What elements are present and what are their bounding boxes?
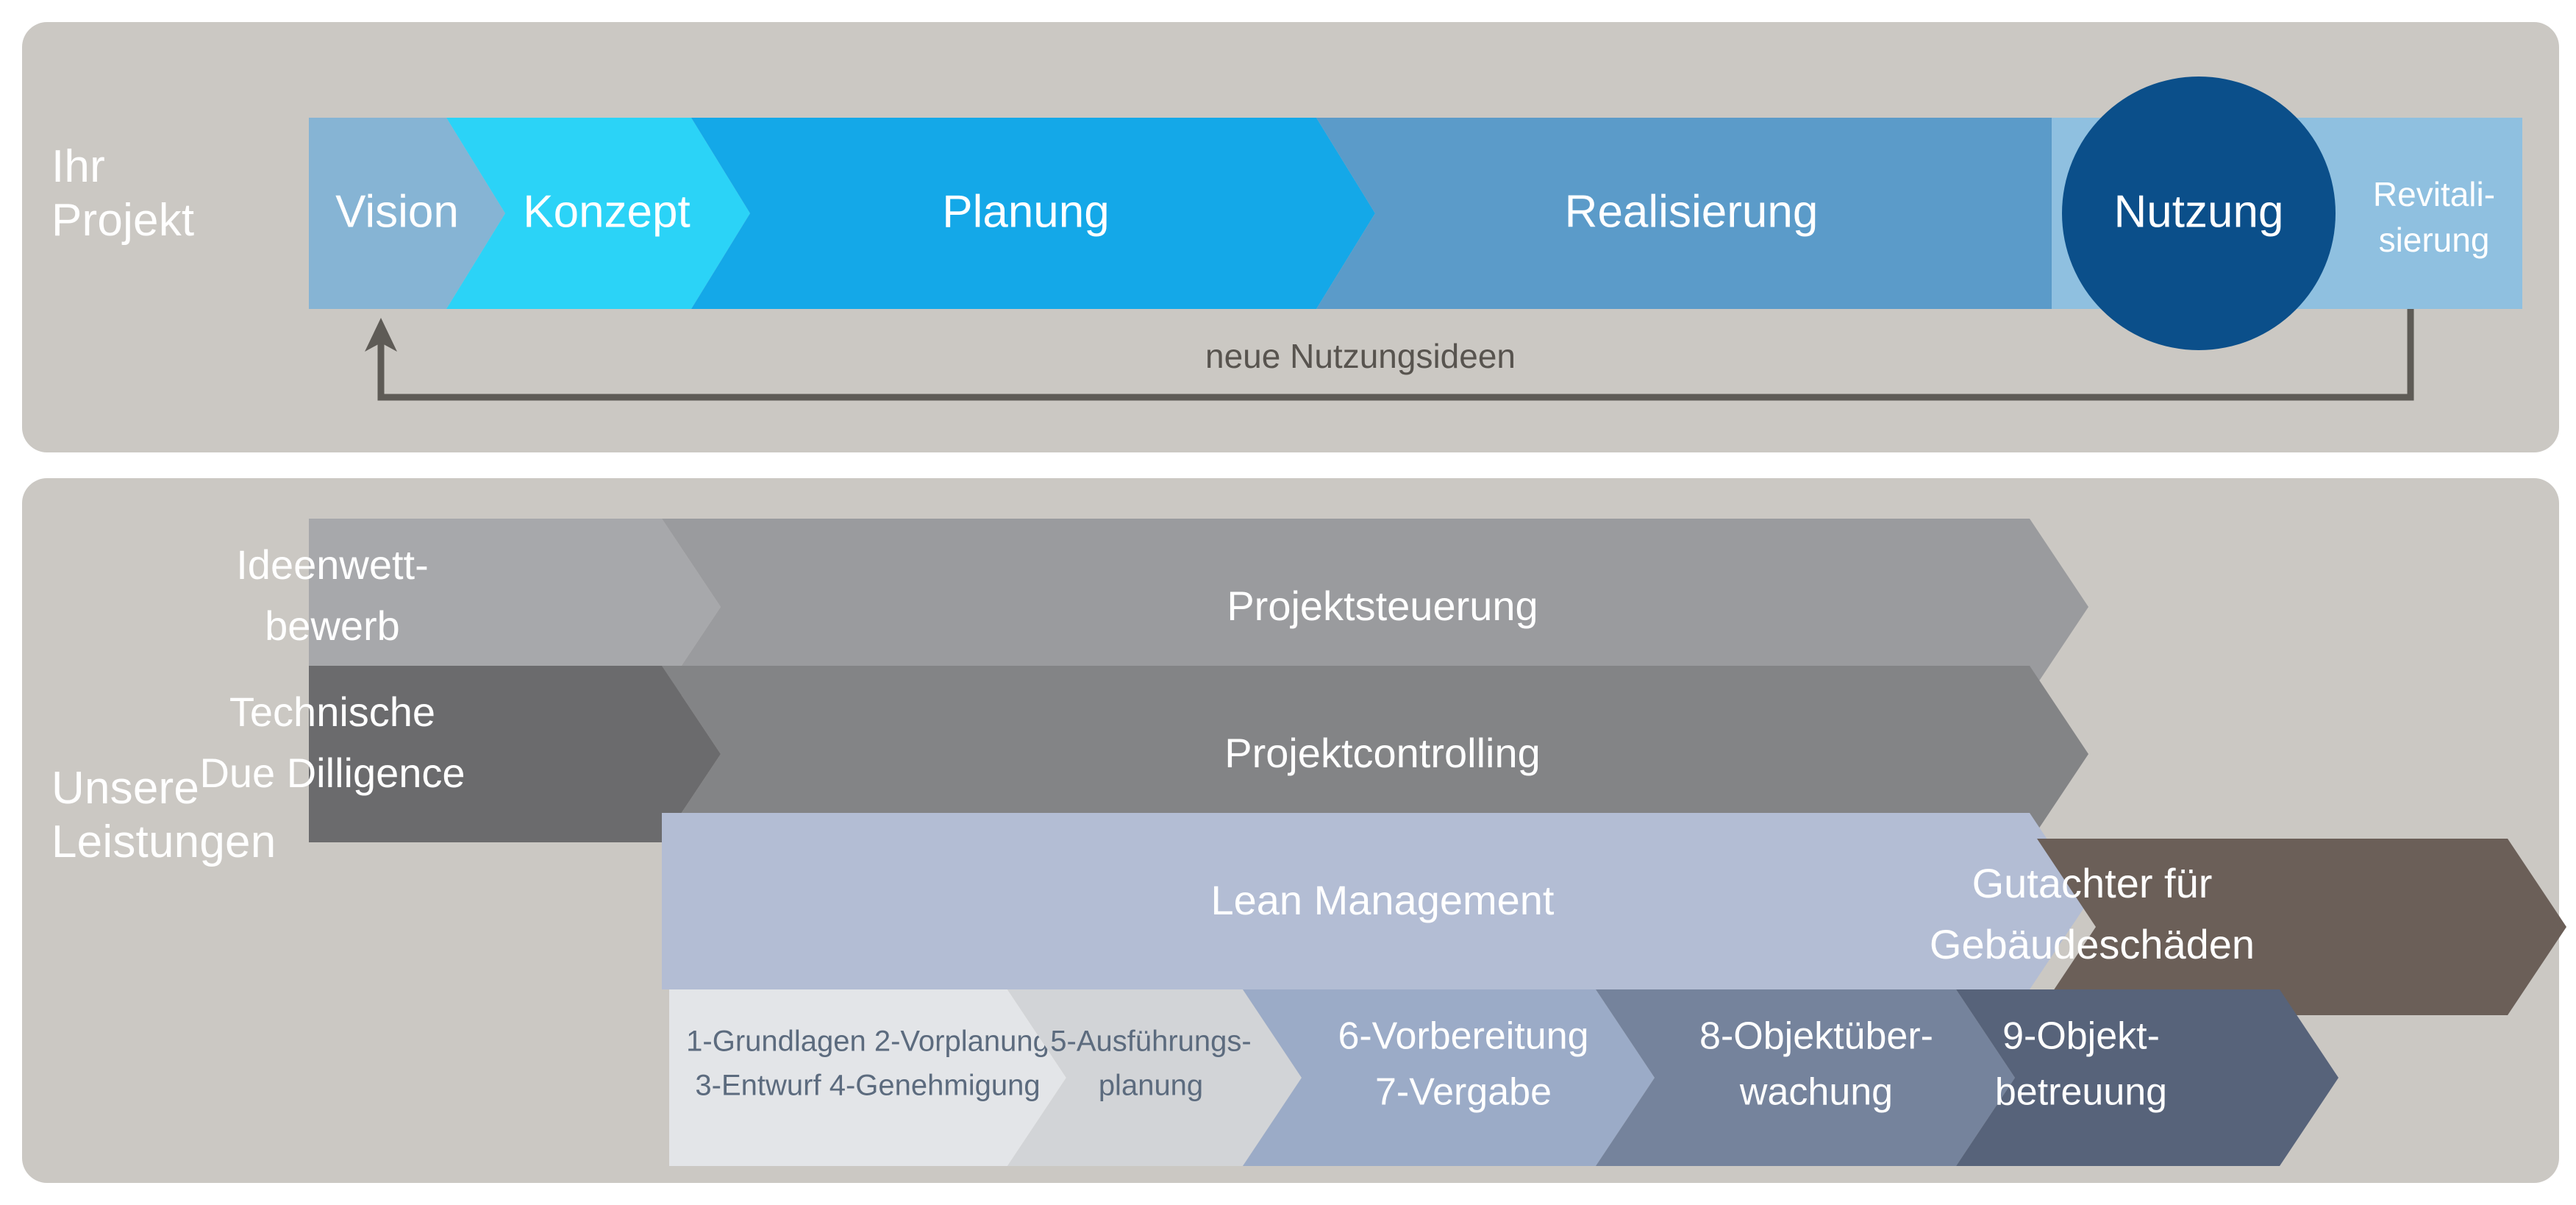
- service-bar-projektcontrolling-label: Projektcontrolling: [1224, 730, 1541, 776]
- hoai-phase-6-7-label-line2: 7-Vergabe: [1375, 1071, 1552, 1114]
- hoai-phase-9[interactable]: 9-Objekt- betreuung: [1956, 989, 2338, 1166]
- hoai-phase-8-label-line1: 8-Objektüber-: [1699, 1015, 1933, 1058]
- service-bar-technische-due-dilligence[interactable]: Technische Due Dilligence: [199, 666, 721, 842]
- hoai-phase-8[interactable]: 8-Objektüber- wachung: [1596, 989, 2015, 1166]
- hoai-phase-1-4-label-line2: 3-Entwurf 4-Genehmigung: [695, 1070, 1040, 1102]
- service-bar-gutachter-label-line2: Gebäudeschäden: [1930, 921, 2255, 967]
- service-shapes: Projektsteuerung Ideenwett- bewerb Proje…: [0, 0, 2576, 1205]
- service-bar-due-dilligence-label-line2: Due Dilligence: [199, 750, 465, 796]
- service-bar-ideenwettbewerb-label-line1: Ideenwett-: [236, 541, 429, 588]
- hoai-phase-6-7[interactable]: 6-Vorbereitung 7-Vergabe: [1243, 989, 1655, 1166]
- hoai-phase-9-label-line1: 9-Objekt-: [2002, 1015, 2160, 1058]
- hoai-phase-9-label-line2: betreuung: [1995, 1071, 2167, 1114]
- service-bar-lean-management[interactable]: Lean Management: [662, 813, 2088, 989]
- diagram-canvas: Ihr Projekt Vision Konzept Planung R: [0, 0, 2576, 1205]
- hoai-phase-1-4[interactable]: 1-Grundlagen 2-Vorplanung 3-Entwurf 4-Ge…: [669, 989, 1066, 1166]
- service-bar-lean-management-label: Lean Management: [1210, 877, 1554, 923]
- service-row-3: Lean Management Gutachter für Gebäudesch…: [662, 813, 2566, 1015]
- hoai-phase-8-label-line2: wachung: [1739, 1071, 1893, 1114]
- service-row-4-hoai: 1-Grundlagen 2-Vorplanung 3-Entwurf 4-Ge…: [669, 989, 2338, 1166]
- hoai-phase-1-4-label-line1: 1-Grundlagen 2-Vorplanung: [686, 1026, 1049, 1058]
- hoai-phase-5-label-line2: planung: [1099, 1070, 1203, 1102]
- service-bar-ideenwettbewerb-label-line2: bewerb: [265, 602, 400, 649]
- service-bar-due-dilligence-label-line1: Technische: [229, 689, 435, 735]
- service-bar-gutachter-label-line1: Gutachter für: [1972, 860, 2213, 906]
- hoai-phase-5-label-line1: 5-Ausführungs-: [1050, 1026, 1251, 1058]
- service-bar-projektsteuerung-label: Projektsteuerung: [1227, 583, 1538, 629]
- hoai-phase-6-7-label-line1: 6-Vorbereitung: [1338, 1015, 1588, 1058]
